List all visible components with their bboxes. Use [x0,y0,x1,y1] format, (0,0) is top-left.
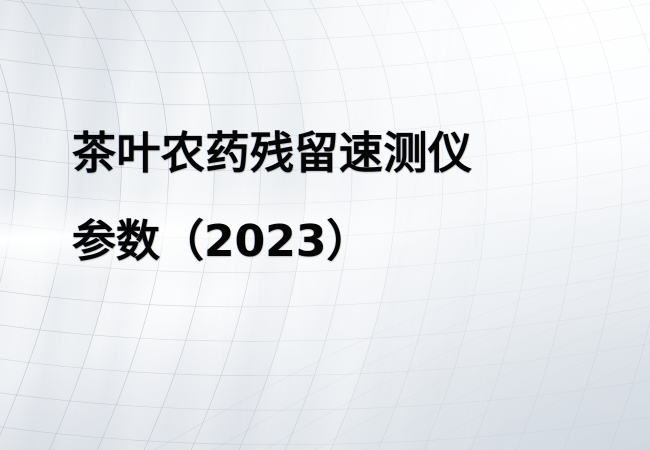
page-title: 茶叶农药残留速测仪 参数（2023） [72,132,592,264]
title-line-primary: 茶叶农药残留速测仪 [72,132,592,176]
product-title-banner: 茶叶农药残留速测仪 参数（2023） [0,0,650,450]
title-line-secondary: 参数（2023） [72,220,592,264]
